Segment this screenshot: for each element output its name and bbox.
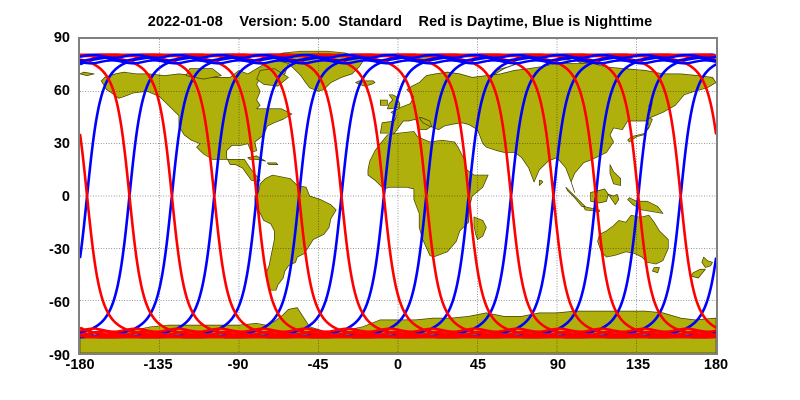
y-tick-label-0: 0 — [34, 189, 70, 205]
x-tick-label-135: 135 — [626, 357, 650, 373]
y-tick-label-60: 60 — [34, 83, 70, 99]
x-tick-label-45: 45 — [470, 357, 486, 373]
figure-title: 2022-01-08 Version: 5.00 Standard Red is… — [0, 14, 800, 30]
y-tick-label-m60: -60 — [34, 295, 70, 311]
x-tick-label-m135: -135 — [143, 357, 172, 373]
x-tick-label-90: 90 — [550, 357, 566, 373]
x-tick-label-0: 0 — [394, 357, 402, 373]
x-tick-label-m45: -45 — [308, 357, 329, 373]
map-svg — [80, 39, 716, 353]
ground-track-map-figure: 2022-01-08 Version: 5.00 Standard Red is… — [0, 0, 800, 400]
x-tick-label-m90: -90 — [228, 357, 249, 373]
x-tick-label-m180: -180 — [65, 357, 94, 373]
plot-canvas — [80, 39, 716, 353]
y-tick-label-m30: -30 — [34, 242, 70, 258]
plot-area — [78, 37, 718, 355]
y-tick-label-30: 30 — [34, 136, 70, 152]
y-tick-label-90: 90 — [34, 30, 70, 46]
x-tick-label-180: 180 — [704, 357, 728, 373]
